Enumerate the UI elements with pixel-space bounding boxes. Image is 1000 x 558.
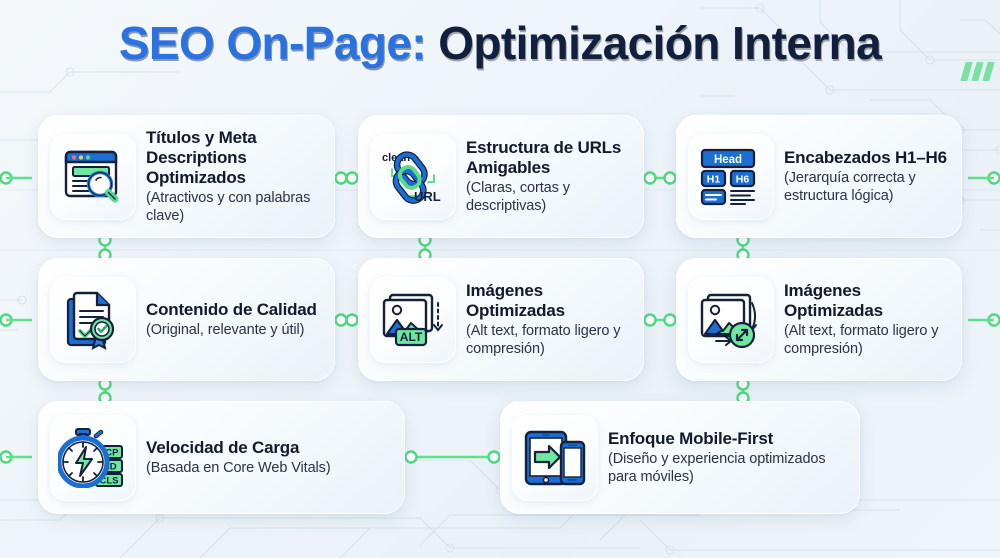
card-title: Enfoque Mobile-First [608, 429, 846, 449]
icon-label-alt: ALT [400, 330, 423, 344]
tablet-to-phone-icon [523, 429, 587, 487]
headings-hierarchy-icon: Head H1 H6 [699, 148, 763, 206]
title-secondary: Optimización Interna [438, 17, 881, 69]
card-title: Contenido de Calidad [146, 300, 321, 320]
browser-search-icon [62, 148, 124, 206]
card-title: Imágenes Optimizadas [466, 281, 630, 321]
icon-label-url: URL [414, 189, 441, 204]
chain-link-url-icon: clean URL [380, 147, 446, 207]
card-contenido-calidad[interactable]: Contenido de Calidad (Original, relevant… [38, 258, 335, 381]
icon-tile: LCP FID CLS [50, 415, 136, 501]
stopwatch-core-web-vitals-icon: LCP FID CLS [58, 428, 128, 488]
icon-tile [688, 277, 774, 363]
card-velocidad-carga[interactable]: LCP FID CLS Velo [38, 401, 405, 514]
icon-tile [50, 277, 136, 363]
card-text: Encabezados H1–H6 (Jerarquía correcta y … [784, 148, 948, 205]
card-title: Imágenes Optimizadas [784, 281, 948, 321]
card-text: Estructura de URLs Amigables (Claras, co… [466, 138, 630, 215]
card-subtitle: (Basada en Core Web Vitals) [146, 460, 391, 478]
card-subtitle: (Jerarquía correcta y estructura lógica) [784, 170, 948, 205]
card-subtitle: (Claras, cortas y descriptivas) [466, 180, 630, 215]
card-title: Velocidad de Carga [146, 438, 391, 458]
icon-tile: Head H1 H6 [688, 134, 774, 220]
icon-tile: clean URL [370, 134, 456, 220]
card-subtitle: (Alt text, formato ligero y compresión) [466, 323, 630, 358]
card-imagenes-optimizadas-alt[interactable]: ALT Imágenes Optimizadas (Alt text, form… [358, 258, 644, 381]
image-resize-compress-icon [698, 291, 764, 349]
title-primary: SEO On-Page: [119, 17, 426, 69]
card-titulos-meta-descriptions[interactable]: Títulos y Meta Descriptions Optimizados … [38, 115, 335, 238]
card-text: Títulos y Meta Descriptions Optimizados … [146, 128, 321, 226]
card-encabezados[interactable]: Head H1 H6 Encabezados H1–H6 (Jerarquía … [676, 115, 962, 238]
card-title: Títulos y Meta Descriptions Optimizados [146, 128, 321, 188]
card-subtitle: (Atractivos y con palabras clave) [146, 190, 321, 225]
card-text: Contenido de Calidad (Original, relevant… [146, 300, 321, 340]
icon-label-head: Head [714, 153, 742, 165]
card-text: Enfoque Mobile-First (Diseño y experienc… [608, 429, 846, 486]
icon-label-h6: H6 [736, 173, 750, 185]
card-subtitle: (Original, relevante y útil) [146, 322, 321, 340]
card-text: Velocidad de Carga (Basada en Core Web V… [146, 438, 391, 478]
card-imagenes-optimizadas-compresion[interactable]: Imágenes Optimizadas (Alt text, formato … [676, 258, 962, 381]
card-title: Estructura de URLs Amigables [466, 138, 630, 178]
icon-tile: ALT [370, 277, 456, 363]
card-text: Imágenes Optimizadas (Alt text, formato … [466, 281, 630, 358]
card-subtitle: (Alt text, formato ligero y compresión) [784, 323, 948, 358]
card-title: Encabezados H1–H6 [784, 148, 948, 168]
card-text: Imágenes Optimizadas (Alt text, formato … [784, 281, 948, 358]
card-enfoque-mobile-first[interactable]: Enfoque Mobile-First (Diseño y experienc… [500, 401, 860, 514]
icon-tile [512, 415, 598, 501]
icon-label-h1: H1 [707, 173, 721, 185]
icon-tile [50, 134, 136, 220]
page-title: SEO On-Page: Optimización Interna [0, 18, 1000, 69]
document-quality-badge-icon [62, 290, 124, 350]
image-alt-text-icon: ALT [380, 291, 446, 349]
card-subtitle: (Diseño y experiencia optimizados para m… [608, 451, 846, 486]
card-estructura-urls[interactable]: clean URL Estructura de URLs Amigables [358, 115, 644, 238]
